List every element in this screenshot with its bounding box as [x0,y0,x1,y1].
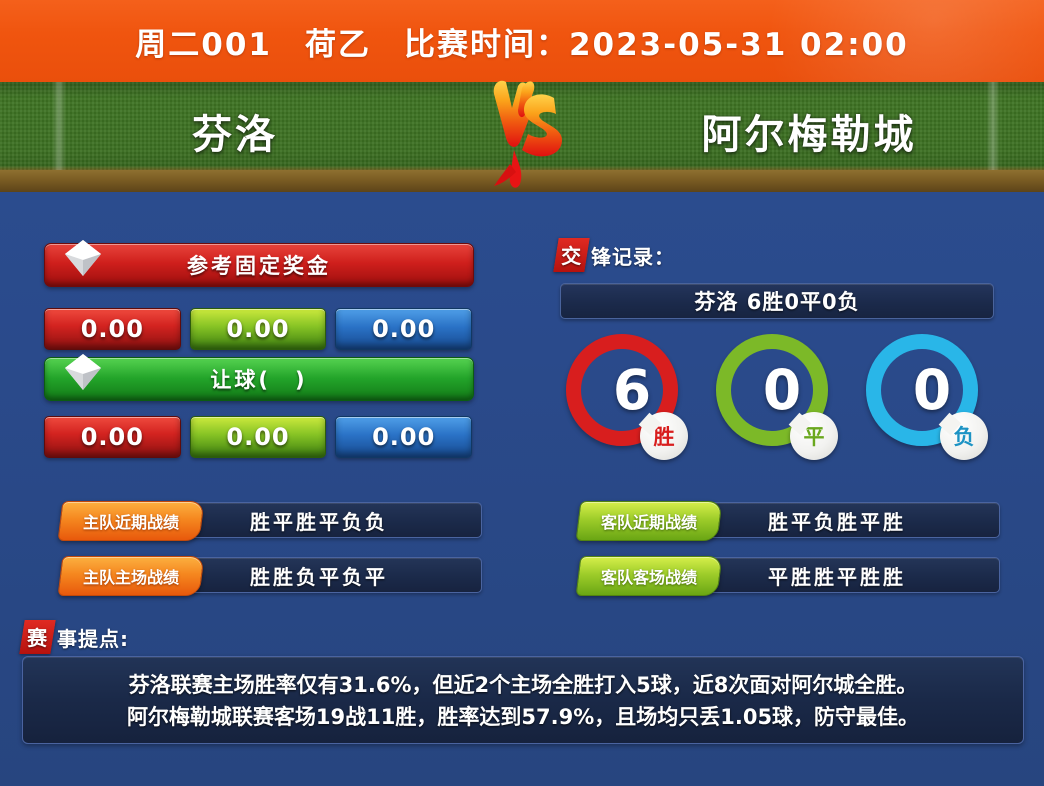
home-recent-form-tag: 主队近期战绩 [58,501,205,541]
h2h-badge-icon: 交 [553,238,589,272]
fixed-prize-banner: 参考固定奖金 [44,243,474,287]
h2h-ring-draw: 0 平 [716,334,834,478]
h2h-ring-win: 6 胜 [566,334,684,478]
vs-flame-icon [470,76,574,192]
fixed-prize-label: 参考固定奖金 [187,250,331,280]
handicap-odds-away[interactable]: 0.00 [335,416,472,458]
tips-badge-icon: 赛 [19,620,55,654]
handicap-odds-home[interactable]: 0.00 [44,416,181,458]
fixed-odds-draw[interactable]: 0.00 [190,308,327,350]
home-team-name: 芬洛 [0,82,470,180]
tips-section-label: 赛 事提点: [22,620,129,654]
h2h-ring-lose: 0 负 [866,334,984,478]
handicap-label: 让球( ) [210,364,307,394]
h2h-rings: 6 胜 0 平 0 负 [560,334,996,484]
header-bar: 周二001 荷乙 比赛时间：2023-05-31 02:00 [0,0,1044,82]
away-recent-form-tag: 客队近期战绩 [576,501,723,541]
home-recent-form-row: 胜平胜平负负 主队近期战绩 [30,502,482,538]
ring-badge-draw: 平 [790,412,838,460]
fixed-odds-home[interactable]: 0.00 [44,308,181,350]
h2h-summary-bar: 芬洛 6胜0平0负 [560,283,994,319]
tips-line-1: 芬洛联赛主场胜率仅有31.6%，但近2个主场全胜打入5球，近8次面对阿尔城全胜。 [129,669,918,699]
home-venue-form-row: 胜胜负平负平 主队主场战绩 [30,557,482,593]
diamond-ornament-icon [63,238,103,278]
fixed-prize-odds-row: 0.00 0.00 0.00 [44,308,472,350]
handicap-odds-row: 0.00 0.00 0.00 [44,416,472,458]
match-preview-page: 周二001 荷乙 比赛时间：2023-05-31 02:00 芬洛 阿尔梅勒城 [0,0,1044,786]
handicap-banner: 让球( ) [44,357,474,401]
away-recent-form-row: 胜平负胜平胜 客队近期战绩 [548,502,1000,538]
tips-box: 芬洛联赛主场胜率仅有31.6%，但近2个主场全胜打入5球，近8次面对阿尔城全胜。… [22,656,1024,744]
handicap-odds-draw[interactable]: 0.00 [190,416,327,458]
diamond-ornament-icon [63,352,103,392]
fixed-odds-away[interactable]: 0.00 [335,308,472,350]
h2h-section-label: 交 锋记录： [556,238,675,272]
away-team-name: 阿尔梅勒城 [574,82,1044,180]
tips-line-2: 阿尔梅勒城联赛客场19战11胜，胜率达到57.9%，且场均只丢1.05球，防守最… [127,701,919,731]
tips-label-text: 事提点: [57,623,129,652]
ring-badge-lose: 负 [940,412,988,460]
away-venue-form-row: 平胜胜平胜胜 客队客场战绩 [548,557,1000,593]
away-venue-form-tag: 客队客场战绩 [576,556,723,596]
header-title: 周二001 荷乙 比赛时间：2023-05-31 02:00 [0,0,1044,82]
home-venue-form-tag: 主队主场战绩 [58,556,205,596]
ring-badge-win: 胜 [640,412,688,460]
h2h-label-text: 锋记录： [591,241,675,270]
